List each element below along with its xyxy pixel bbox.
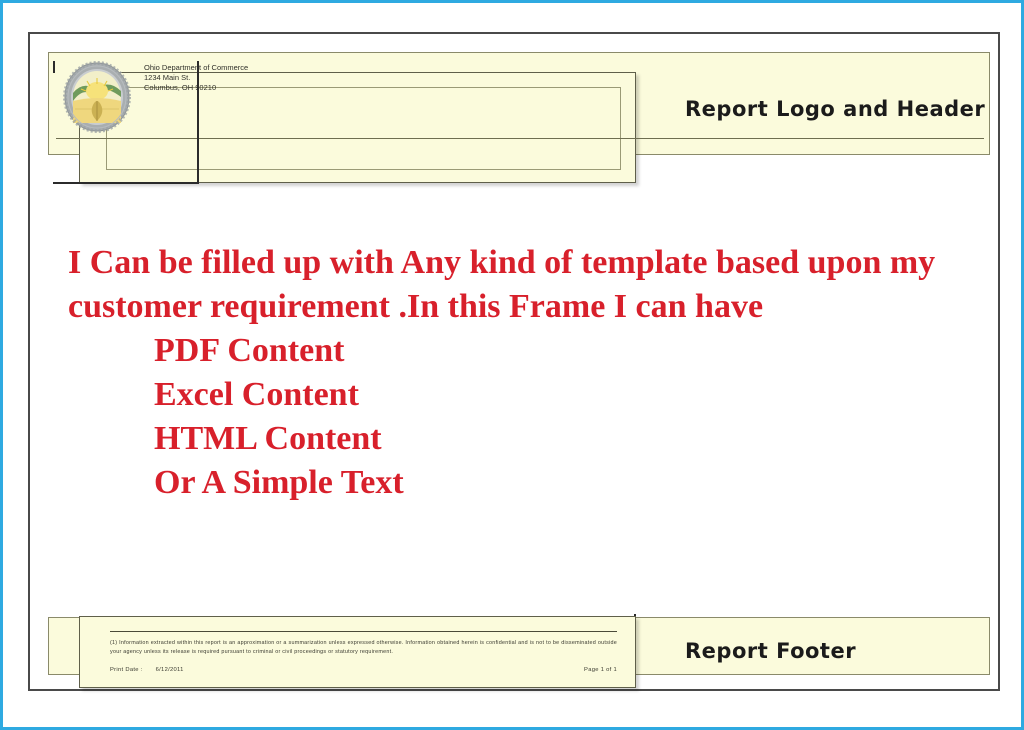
header-divider-rule (56, 138, 984, 139)
crop-mark-horizontal-header (53, 182, 199, 184)
list-item: Or A Simple Text (154, 461, 958, 505)
slide-canvas: Ohio Department of Commerce 1234 Main St… (0, 0, 1024, 730)
print-date-label: Print Date : (110, 667, 143, 673)
body-text-block: I Can be filled up with Any kind of temp… (68, 241, 958, 505)
content-type-list: PDF Content Excel Content HTML Content O… (68, 329, 958, 505)
page-number: Page 1 of 1 (584, 667, 617, 673)
print-date-group: Print Date : 6/12/2011 (110, 667, 184, 673)
report-frame: Ohio Department of Commerce 1234 Main St… (28, 32, 1000, 691)
crop-mark-vertical-header (197, 61, 199, 184)
footer-divider-rule (110, 631, 617, 632)
list-item: HTML Content (154, 417, 958, 461)
report-footer-caption: Report Footer (685, 639, 856, 663)
report-footer-sample-card: (1) Information extracted within this re… (79, 616, 636, 688)
list-item: Excel Content (154, 373, 958, 417)
list-item: PDF Content (154, 329, 958, 373)
crop-mark-top-left (53, 61, 55, 73)
footer-disclaimer-text: (1) Information extracted within this re… (110, 639, 617, 657)
report-header-sample-inner-border (106, 87, 621, 170)
body-paragraph: I Can be filled up with Any kind of temp… (68, 241, 958, 329)
report-header-caption: Report Logo and Header (685, 97, 985, 121)
footer-meta-row: Print Date : 6/12/2011 Page 1 of 1 (110, 667, 617, 673)
ohio-state-seal-icon (63, 61, 131, 133)
print-date-value: 6/12/2011 (156, 667, 184, 673)
